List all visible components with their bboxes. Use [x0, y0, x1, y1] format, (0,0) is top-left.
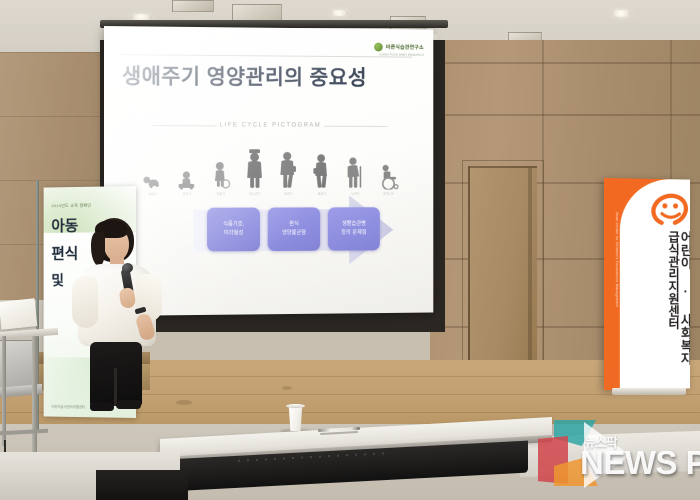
infant-crawling-icon: 영아기 [140, 144, 166, 190]
banner-right-base [612, 388, 686, 395]
door-stile [528, 168, 532, 371]
slide-logo-text: 바른식습관연구소 [386, 44, 424, 51]
section-rule-right [324, 126, 387, 127]
hair-side [91, 232, 105, 266]
wooden-door[interactable] [468, 166, 537, 374]
flow-box-line1: 생활습관병 [342, 222, 366, 228]
downlight [611, 10, 631, 17]
ceiling-vent [172, 0, 214, 12]
flow-box-line2: 영양불균형 [282, 231, 306, 237]
flow-box-row: 식품기호, 미각형성 편식 영양불균형 생활습관병 등의 문제점 [207, 205, 380, 253]
shoe-right [116, 400, 141, 409]
title-rule [120, 54, 412, 57]
child-icon: 학동기 [208, 144, 234, 190]
smiley-face-icon [649, 193, 690, 227]
banner-right-korean-text: 오산시 어린이 · 사회복지 급식관리지원센터 [641, 230, 690, 385]
banner-right-col-children: 어린이 · 사회복지 [679, 231, 690, 385]
side-table-leg [2, 336, 6, 446]
side-table-leg [32, 336, 37, 454]
paper-cup-rim [286, 404, 305, 408]
banner-right-col-center: 급식관리지원센터 [666, 231, 678, 385]
banner-right-panel: 오산시 어린이 · 사회복지 급식관리지원센터 [620, 178, 690, 389]
banner-right-side-text: Osan Center for Children's Foodservice M… [606, 212, 618, 307]
floor-mark [282, 386, 292, 390]
foreground-table-left-underside [96, 470, 188, 500]
wheelchair-icon: 후기노년 [376, 145, 401, 190]
slide-title: 생애주기 영양관리의 중요성 [122, 60, 367, 91]
shoe-left [90, 402, 114, 411]
flow-box-line2: 등의 문제점 [341, 230, 366, 236]
slide-logo: 바른식습관연구소 [374, 43, 423, 52]
floor-mark [176, 400, 192, 405]
presenter-woman [66, 218, 174, 396]
flow-box: 생활습관병 등의 문제점 [328, 207, 380, 250]
teen-icon: 청소년기 [242, 144, 267, 190]
flow-box-line2: 미각형성 [224, 231, 243, 237]
flow-box-line1: 식품기호, [223, 222, 244, 228]
wood-seam [430, 62, 700, 64]
pictogram-caption: 영아기 [140, 191, 166, 196]
pictogram-row: 영아기 유아기 학동기 [140, 138, 401, 190]
news-pak-watermark: 뉴스팍 NEWS PAK [538, 418, 698, 498]
banner-left-line3: 및 [51, 270, 64, 290]
elderly-cane-icon: 노년기 [343, 144, 368, 189]
flow-box-line1: 편식 [289, 222, 299, 228]
banner-right: Osan Center for Children's Foodservice M… [604, 178, 690, 390]
banner-left-footer: 어린이급식관리지원센터 [51, 404, 85, 409]
paper-stack [0, 298, 37, 330]
wood-seam [430, 114, 700, 116]
sleeve-left [72, 276, 98, 328]
toddler-icon: 유아기 [174, 144, 200, 190]
adult-man-icon: 성인기 [276, 144, 301, 189]
leaf-logo-icon [374, 43, 383, 52]
photo-scene: 바른식습관연구소 KOREA FOOD HABIT RESEARCH 생애주기 … [0, 0, 700, 500]
downlight [330, 10, 348, 16]
adult-woman-icon: 중년기 [309, 144, 334, 189]
banner-left-kicker: 2019년도 교육 캠페인 [51, 203, 91, 210]
watermark-english: NEWS PAK [580, 444, 700, 482]
flow-box: 식품기호, 미각형성 [207, 208, 260, 252]
leg-separation [114, 368, 117, 406]
flow-box: 편식 영양불균형 [268, 207, 320, 251]
